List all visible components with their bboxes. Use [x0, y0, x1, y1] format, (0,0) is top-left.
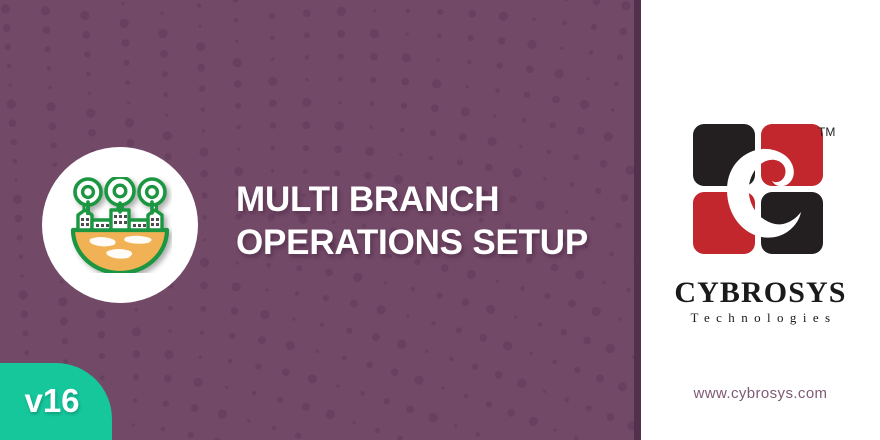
trademark-symbol: TM — [818, 125, 835, 139]
page-title: MULTI BRANCH OPERATIONS SETUP — [236, 178, 632, 264]
right-panel: TM CYBROSYS Technologies www.cybrosys.co… — [641, 0, 880, 440]
cybrosys-logo: TM — [687, 118, 835, 268]
brand-lockup: TM CYBROSYS Technologies — [641, 118, 880, 326]
brand-tagline: Technologies — [641, 310, 880, 326]
feature-icon-medallion — [42, 147, 198, 303]
brand-website-url: www.cybrosys.com — [641, 385, 880, 402]
version-badge-label: v16 — [0, 382, 104, 420]
promo-banner: MULTI BRANCH OPERATIONS SETUP v16 TM CYB… — [0, 0, 880, 440]
brand-name: CYBROSYS — [641, 277, 880, 309]
title-line-2: OPERATIONS SETUP — [236, 221, 632, 264]
panel-divider-stripe — [634, 0, 641, 440]
title-line-1: MULTI BRANCH — [236, 178, 632, 221]
multi-branch-globe-icon — [68, 177, 172, 273]
left-panel: MULTI BRANCH OPERATIONS SETUP v16 — [0, 0, 634, 440]
